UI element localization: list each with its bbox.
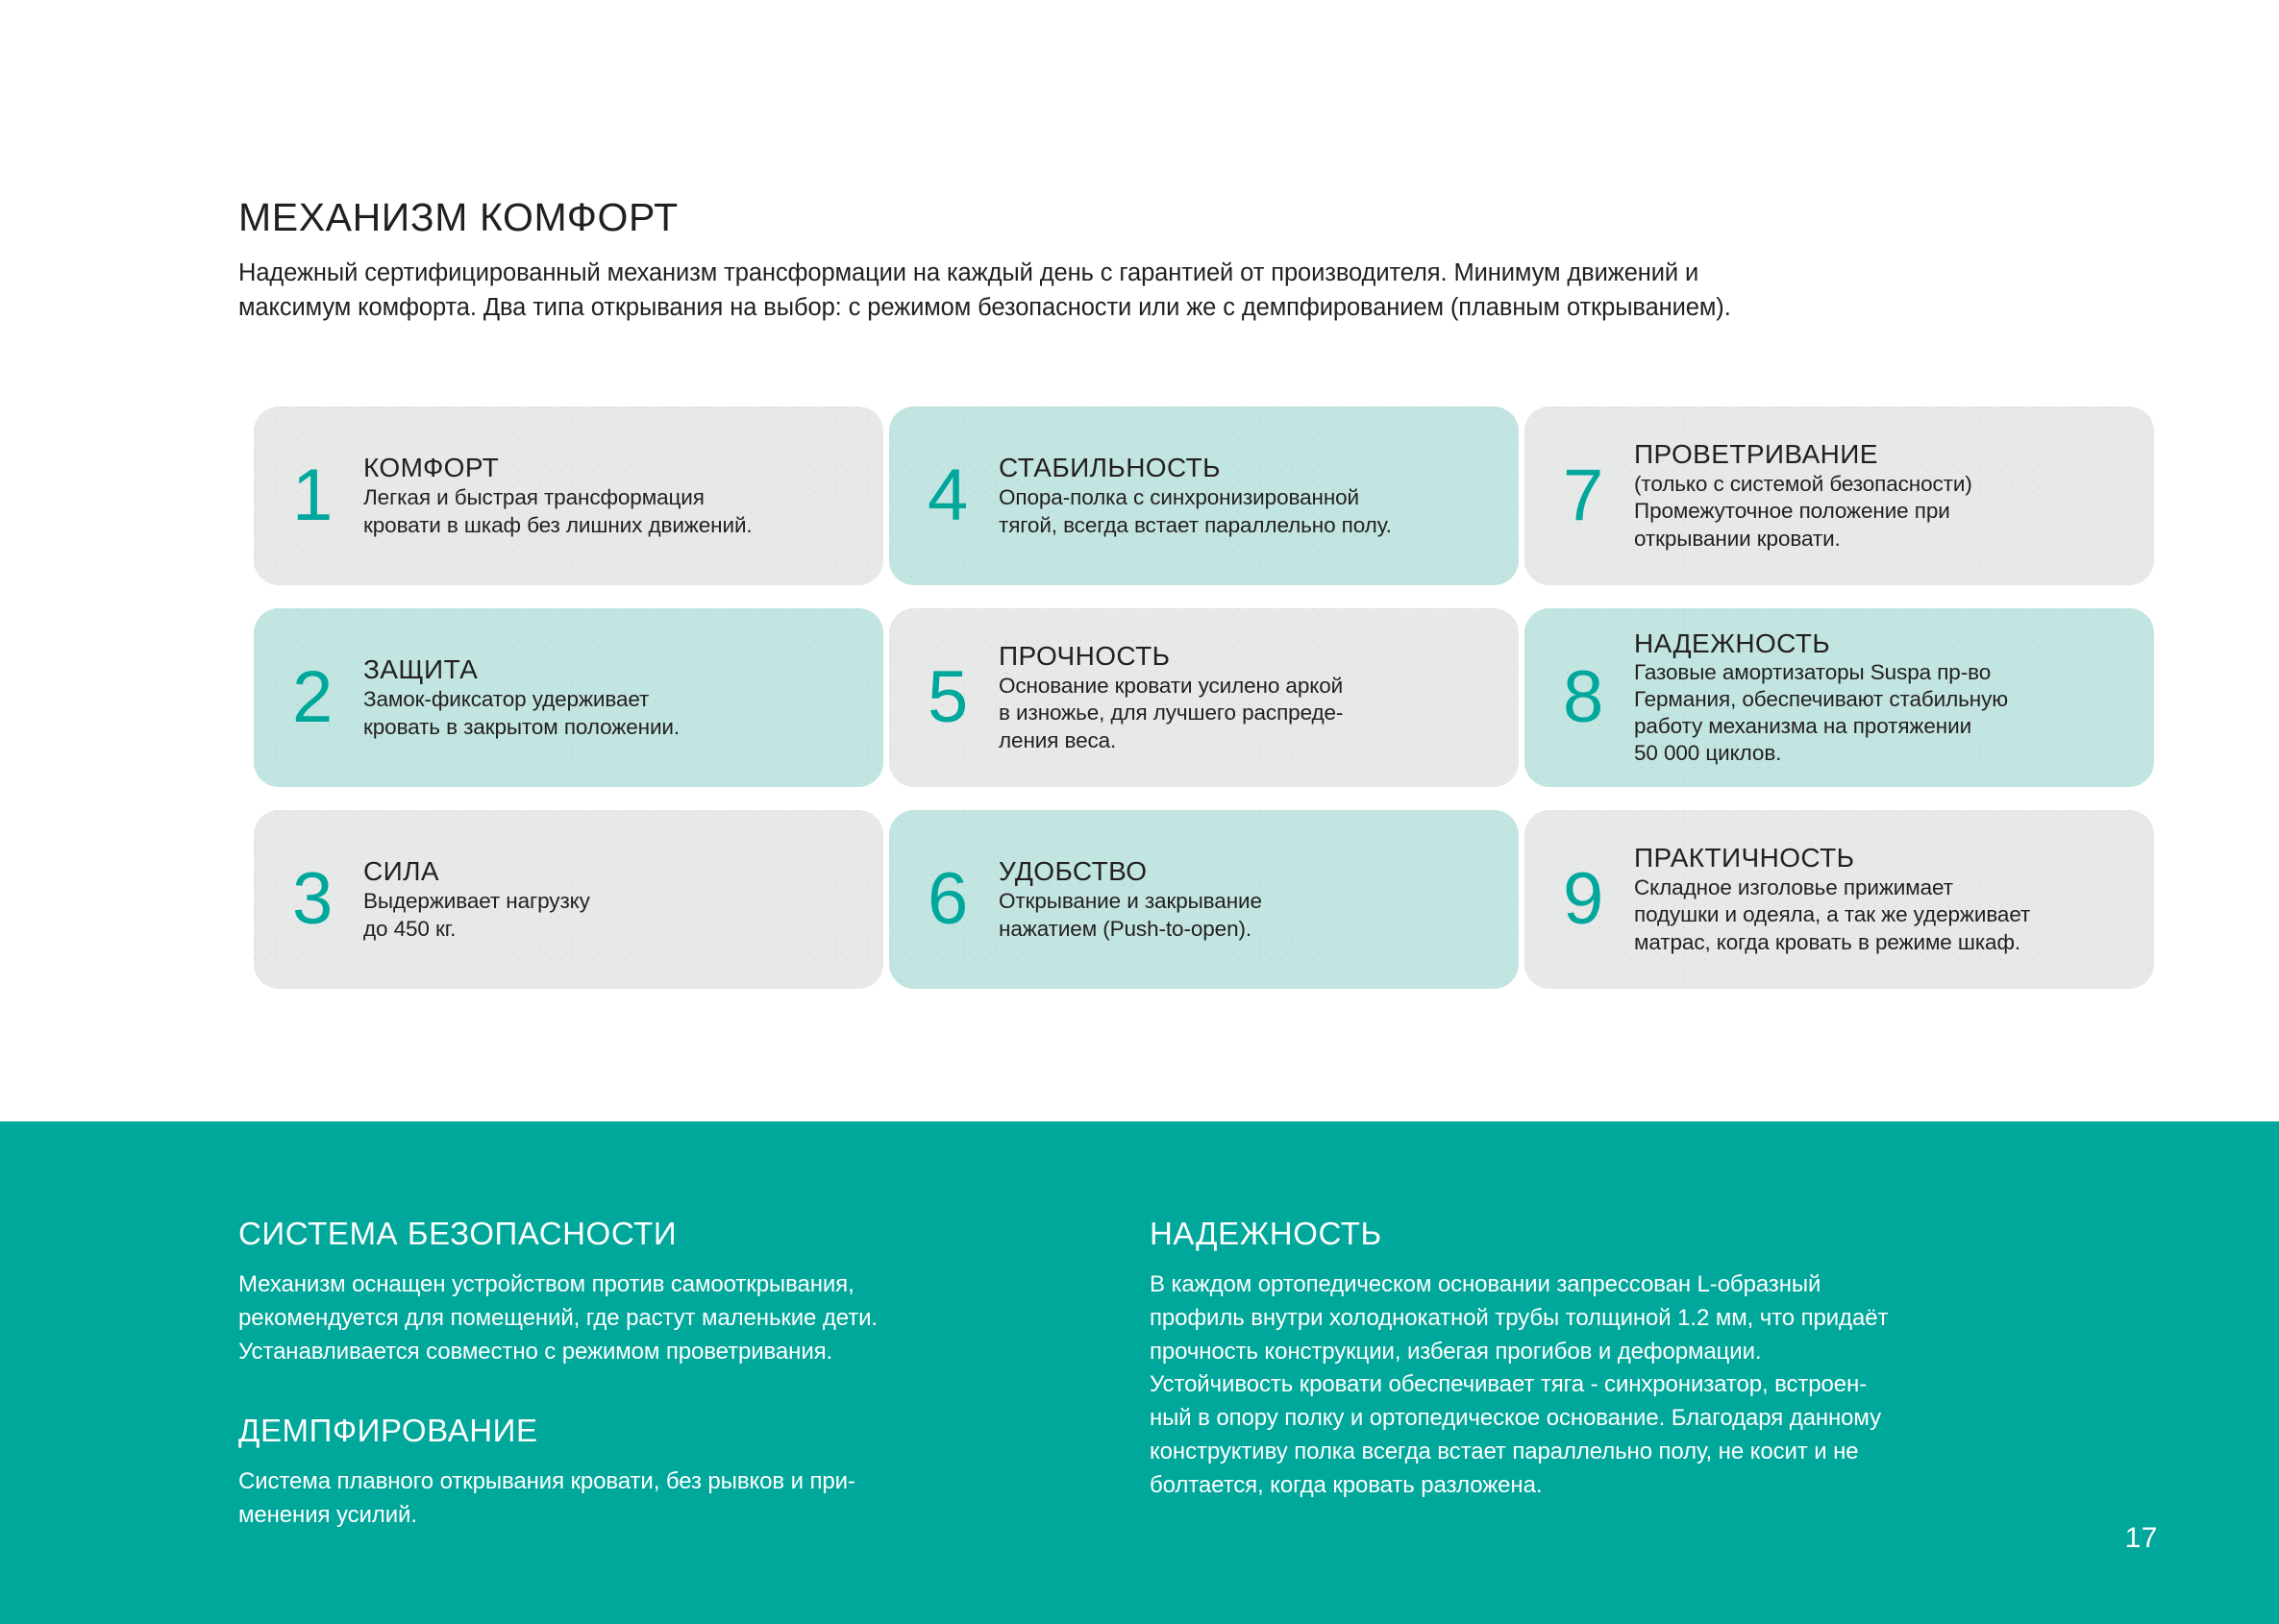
page-number: 17 bbox=[2125, 1522, 2158, 1555]
card-description: Выдерживает нагрузку до 450 кг. bbox=[363, 887, 866, 943]
card-body: УДОБСТВО Открывание и закрывание нажатие… bbox=[999, 856, 1519, 944]
card-desc-line: Открывание и закрывание bbox=[999, 887, 1501, 915]
section-text-line: Устойчивость кровати обеспечивает тяга -… bbox=[1150, 1368, 2063, 1402]
card-description: Опора-полка с синхронизированной тягой, … bbox=[999, 483, 1501, 539]
card-title: ПРАКТИЧНОСТЬ bbox=[1634, 843, 2137, 874]
intro-block: МЕХАНИЗМ КОМФОРТ Надежный сертифицирован… bbox=[238, 196, 2074, 325]
card-desc-line: до 450 кг. bbox=[363, 915, 866, 943]
section-text-line: прочность конструкции, избегая прогибов … bbox=[1150, 1336, 2063, 1369]
feature-card-4[interactable]: 4 СТАБИЛЬНОСТЬ Опора-полка с синхронизир… bbox=[889, 406, 1519, 585]
feature-card-grid: 1 КОМФОРТ Легкая и быстрая трансформация… bbox=[254, 406, 2157, 989]
section-text-line: Система плавного открывания кровати, без… bbox=[238, 1465, 1046, 1499]
section-text-line: Устанавливается совместно с режимом пров… bbox=[238, 1336, 1046, 1369]
card-description: Замок-фиксатор удерживает кровать в закр… bbox=[363, 685, 866, 741]
section-text-line: профиль внутри холоднокатной трубы толщи… bbox=[1150, 1302, 2063, 1336]
card-body: СТАБИЛЬНОСТЬ Опора-полка с синхронизиров… bbox=[999, 453, 1519, 540]
card-number: 6 bbox=[928, 863, 999, 936]
card-title: СИЛА bbox=[363, 856, 866, 887]
section-text-line: Механизм оснащен устройством против само… bbox=[238, 1268, 1046, 1302]
card-number: 7 bbox=[1563, 459, 1634, 532]
card-desc-line: Складное изголовье прижимает bbox=[1634, 874, 2137, 902]
feature-card-2[interactable]: 2 ЗАЩИТА Замок-фиксатор удерживает крова… bbox=[254, 608, 883, 787]
section-text: В каждом ортопедическом основании запрес… bbox=[1150, 1268, 2063, 1503]
footer-teal-band: СИСТЕМА БЕЗОПАСНОСТИ Механизм оснащен ус… bbox=[0, 1121, 2279, 1624]
card-desc-line: матрас, когда кровать в режиме шкаф. bbox=[1634, 929, 2137, 957]
card-desc-line: ления веса. bbox=[999, 727, 1501, 755]
brochure-page: МЕХАНИЗМ КОМФОРТ Надежный сертифицирован… bbox=[0, 0, 2279, 1624]
card-desc-line: тягой, всегда встает параллельно полу. bbox=[999, 511, 1501, 539]
section-text-line: болтается, когда кровать разложена. bbox=[1150, 1469, 2063, 1503]
section-text-line: менения усилий. bbox=[238, 1499, 1046, 1533]
footer-left-column: СИСТЕМА БЕЗОПАСНОСТИ Механизм оснащен ус… bbox=[238, 1216, 1046, 1533]
card-desc-line: 50 000 циклов. bbox=[1634, 740, 2137, 767]
footer-section-security: СИСТЕМА БЕЗОПАСНОСТИ Механизм оснащен ус… bbox=[238, 1216, 1046, 1368]
card-desc-line: Опора-полка с синхронизированной bbox=[999, 483, 1501, 511]
feature-card-5[interactable]: 5 ПРОЧНОСТЬ Основание кровати усилено ар… bbox=[889, 608, 1519, 787]
card-number: 3 bbox=[292, 863, 363, 936]
card-number: 1 bbox=[292, 459, 363, 532]
card-body: КОМФОРТ Легкая и быстрая трансформация к… bbox=[363, 453, 883, 540]
card-desc-line: подушки и одеяла, а так же удерживает bbox=[1634, 901, 2137, 929]
card-desc-line: в изножье, для лучшего распреде- bbox=[999, 700, 1501, 727]
feature-card-3[interactable]: 3 СИЛА Выдерживает нагрузку до 450 кг. bbox=[254, 810, 883, 989]
card-desc-line: кровать в закрытом положении. bbox=[363, 713, 866, 741]
card-title: ПРОВЕТРИВАНИЕ bbox=[1634, 439, 2137, 470]
card-description: Основание кровати усилено аркой в изножь… bbox=[999, 673, 1501, 755]
intro-paragraph: Надежный сертифицированный механизм тран… bbox=[238, 256, 2074, 325]
card-body: НАДЕЖНОСТЬ Газовые амортизаторы Suspa пр… bbox=[1634, 628, 2154, 767]
page-title: МЕХАНИЗМ КОМФОРТ bbox=[238, 196, 2074, 240]
card-desc-line: Основание кровати усилено аркой bbox=[999, 673, 1501, 701]
card-title: СТАБИЛЬНОСТЬ bbox=[999, 453, 1501, 483]
card-title: ПРОЧНОСТЬ bbox=[999, 641, 1501, 672]
card-description: (только с системой безопасности) Промежу… bbox=[1634, 471, 2137, 554]
card-desc-line: работу механизма на протяжении bbox=[1634, 713, 2137, 740]
top-section: МЕХАНИЗМ КОМФОРТ Надежный сертифицирован… bbox=[0, 0, 2279, 1121]
card-body: ПРОЧНОСТЬ Основание кровати усилено арко… bbox=[999, 641, 1519, 755]
card-desc-line: кровати в шкаф без лишних движений. bbox=[363, 511, 866, 539]
card-desc-line: Замок-фиксатор удерживает bbox=[363, 685, 866, 713]
card-number: 5 bbox=[928, 661, 999, 734]
section-title: ДЕМПФИРОВАНИЕ bbox=[238, 1413, 1046, 1449]
section-title: НАДЕЖНОСТЬ bbox=[1150, 1216, 2063, 1252]
section-text-line: конструктиву полка всегда встает паралле… bbox=[1150, 1436, 2063, 1469]
card-body: ЗАЩИТА Замок-фиксатор удерживает кровать… bbox=[363, 654, 883, 742]
card-title: УДОБСТВО bbox=[999, 856, 1501, 887]
card-description: Складное изголовье прижимает подушки и о… bbox=[1634, 874, 2137, 957]
card-number: 9 bbox=[1563, 863, 1634, 936]
card-body: СИЛА Выдерживает нагрузку до 450 кг. bbox=[363, 856, 883, 944]
intro-line-1: Надежный сертифицированный механизм тран… bbox=[238, 259, 1698, 286]
card-title: НАДЕЖНОСТЬ bbox=[1634, 628, 2137, 659]
section-text-line: рекомендуется для помещений, где растут … bbox=[238, 1302, 1046, 1336]
section-text-line: В каждом ортопедическом основании запрес… bbox=[1150, 1268, 2063, 1302]
section-text-line: ный в опору полку и ортопедическое основ… bbox=[1150, 1402, 2063, 1436]
card-title: КОМФОРТ bbox=[363, 453, 866, 483]
feature-card-1[interactable]: 1 КОМФОРТ Легкая и быстрая трансформация… bbox=[254, 406, 883, 585]
card-description: Легкая и быстрая трансформация кровати в… bbox=[363, 483, 866, 539]
feature-card-8[interactable]: 8 НАДЕЖНОСТЬ Газовые амортизаторы Suspa … bbox=[1524, 608, 2154, 787]
card-desc-line: (только с системой безопасности) bbox=[1634, 471, 2137, 499]
card-desc-line: открывании кровати. bbox=[1634, 526, 2137, 554]
footer-section-damping: ДЕМПФИРОВАНИЕ Система плавного открывани… bbox=[238, 1413, 1046, 1533]
feature-card-7[interactable]: 7 ПРОВЕТРИВАНИЕ (только с системой безоп… bbox=[1524, 406, 2154, 585]
section-text: Система плавного открывания кровати, без… bbox=[238, 1465, 1046, 1533]
card-number: 4 bbox=[928, 459, 999, 532]
card-description: Газовые амортизаторы Suspa пр-во Германи… bbox=[1634, 659, 2137, 768]
card-number: 8 bbox=[1563, 661, 1634, 734]
card-body: ПРОВЕТРИВАНИЕ (только с системой безопас… bbox=[1634, 439, 2154, 554]
card-desc-line: нажатием (Push-to-open). bbox=[999, 915, 1501, 943]
card-title: ЗАЩИТА bbox=[363, 654, 866, 685]
card-desc-line: Промежуточное положение при bbox=[1634, 498, 2137, 526]
card-desc-line: Газовые амортизаторы Suspa пр-во bbox=[1634, 659, 2137, 686]
card-desc-line: Легкая и быстрая трансформация bbox=[363, 483, 866, 511]
section-text: Механизм оснащен устройством против само… bbox=[238, 1268, 1046, 1368]
footer-spacer bbox=[238, 1368, 1046, 1413]
footer-right-column: НАДЕЖНОСТЬ В каждом ортопедическом основ… bbox=[1150, 1216, 2063, 1503]
footer-section-reliability: НАДЕЖНОСТЬ В каждом ортопедическом основ… bbox=[1150, 1216, 2063, 1503]
section-title: СИСТЕМА БЕЗОПАСНОСТИ bbox=[238, 1216, 1046, 1252]
card-body: ПРАКТИЧНОСТЬ Складное изголовье прижимае… bbox=[1634, 843, 2154, 957]
card-desc-line: Выдерживает нагрузку bbox=[363, 887, 866, 915]
card-desc-line: Германия, обеспечивают стабильную bbox=[1634, 686, 2137, 713]
card-number: 2 bbox=[292, 661, 363, 734]
feature-card-6[interactable]: 6 УДОБСТВО Открывание и закрывание нажат… bbox=[889, 810, 1519, 989]
intro-line-2: максимум комфорта. Два типа открывания н… bbox=[238, 290, 2074, 325]
card-description: Открывание и закрывание нажатием (Push-t… bbox=[999, 887, 1501, 943]
feature-card-9[interactable]: 9 ПРАКТИЧНОСТЬ Складное изголовье прижим… bbox=[1524, 810, 2154, 989]
